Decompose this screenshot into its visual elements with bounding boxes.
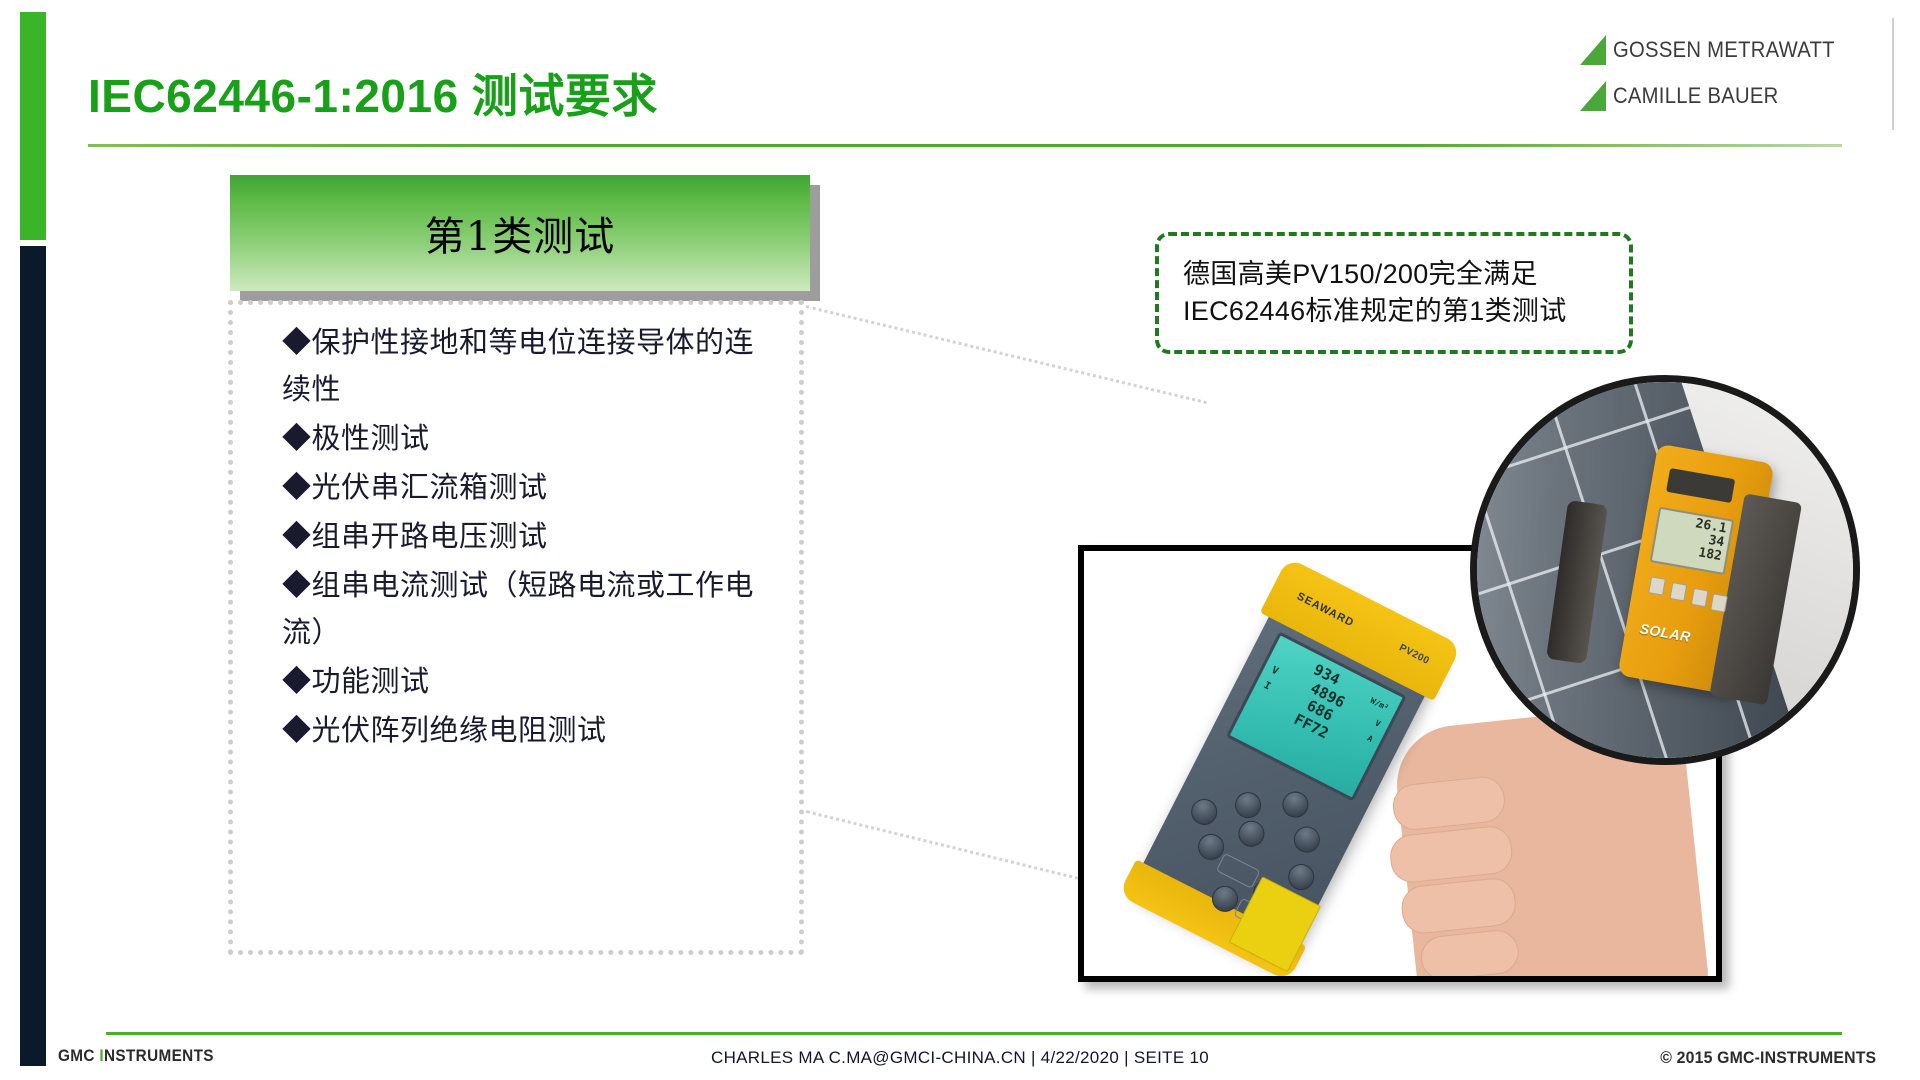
lcd-row3-unit: A	[1366, 734, 1375, 745]
footer-rule	[106, 1032, 1842, 1035]
page-title: IEC62446-1:2016 测试要求	[88, 60, 1188, 126]
list-item: ◆极性测试	[282, 416, 782, 463]
keypad-button	[1289, 822, 1324, 857]
list-item: ◆光伏阵列绝缘电阻测试	[282, 708, 782, 755]
list-item: ◆保护性接地和等电位连接导体的连续性	[282, 320, 782, 414]
solar-meter-button	[1670, 582, 1688, 601]
footer-author-meta: CHARLES MA C.MA@GMCI-CHINA.CN | 4/22/202…	[0, 1048, 1920, 1068]
solar-meter-lcd: 26.1 34 182	[1650, 507, 1735, 575]
connector-line-bottom	[806, 810, 1092, 883]
bullet-list: ◆保护性接地和等电位连接导体的连续性 ◆极性测试 ◆光伏串汇流箱测试 ◆组串开路…	[282, 320, 782, 757]
list-item: ◆组串电流测试（短路电流或工作电流）	[282, 563, 782, 657]
keypad-button	[1234, 816, 1269, 851]
left-edge-navy-bar	[20, 246, 46, 1066]
banner-heading-label: 第1类测试	[425, 204, 615, 262]
logo-camille-bauer-label: CAMILLE BAUER	[1613, 83, 1779, 109]
title-underline-rule	[88, 144, 1842, 147]
solar-meter-button	[1710, 593, 1728, 612]
finger	[1419, 928, 1521, 982]
logo-divider	[1892, 18, 1894, 130]
lcd-row2-label: V	[1269, 665, 1280, 678]
callout-line-2: IEC62446标准规定的第1类测试	[1183, 293, 1629, 330]
left-edge-green-bar	[20, 12, 46, 240]
section-banner: 第1类测试	[230, 175, 810, 291]
callout-line-1: 德国高美PV150/200完全满足	[1183, 256, 1629, 293]
triangle-icon	[1580, 81, 1606, 111]
lcd-row2-unit: V	[1374, 718, 1383, 729]
finger	[1391, 775, 1507, 832]
keypad-button	[1231, 788, 1266, 823]
list-item: ◆光伏串汇流箱测试	[282, 465, 782, 512]
logo-gossen-metrawatt-label: GOSSEN METRAWATT	[1613, 37, 1835, 63]
solar-meter-button	[1648, 576, 1666, 595]
finger	[1388, 824, 1514, 884]
connector-line-top	[806, 305, 1207, 404]
list-item: ◆功能测试	[282, 659, 782, 706]
list-item: ◆组串开路电压测试	[282, 514, 782, 561]
photo-solar-irradiance-meter: 26.1 34 182 SOLAR	[1470, 375, 1860, 765]
corporate-logos: GOSSEN METRAWATT CAMILLE BAUER	[1580, 30, 1860, 122]
keypad-button	[1187, 794, 1222, 829]
logo-camille-bauer: CAMILLE BAUER	[1580, 76, 1860, 116]
solar-meter-brand-label: SOLAR	[1639, 620, 1692, 645]
solar-meter-sensor-window	[1666, 468, 1735, 503]
triangle-icon	[1580, 35, 1606, 65]
solar-meter-button	[1691, 588, 1709, 607]
keypad-outline	[1216, 853, 1261, 889]
keypad-button	[1278, 787, 1313, 822]
logo-gossen-metrawatt: GOSSEN METRAWATT	[1580, 30, 1860, 70]
footer-copyright: © 2015 GMC-INSTRUMENTS	[1660, 1048, 1876, 1068]
callout-box: 德国高美PV150/200完全满足 IEC62446标准规定的第1类测试	[1155, 232, 1633, 354]
lcd-row3-label: I	[1261, 680, 1272, 693]
finger	[1399, 876, 1517, 936]
